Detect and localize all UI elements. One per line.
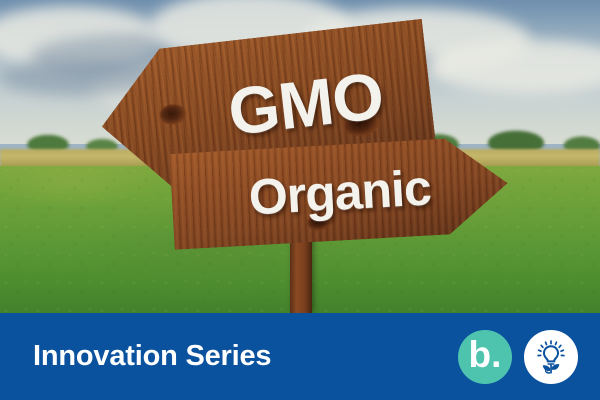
banner-title: Innovation Series xyxy=(33,340,271,373)
lightbulb-plant-icon xyxy=(531,337,571,377)
banner-logos: b. xyxy=(458,330,578,384)
promo-image: GMO Organic Innovation Series b. xyxy=(0,0,600,400)
innovation-series-banner: Innovation Series b. xyxy=(0,313,600,400)
signpost: GMO Organic xyxy=(0,0,600,313)
wood-knot xyxy=(307,214,330,231)
wood-knot xyxy=(159,103,187,126)
brand-b-logo[interactable]: b. xyxy=(458,330,512,384)
wood-knot xyxy=(343,112,379,138)
lightbulb-plant-logo[interactable] xyxy=(524,330,578,384)
brand-b-mark: b. xyxy=(469,336,502,373)
arrow-right-icon xyxy=(169,135,510,250)
sign-organic: Organic xyxy=(169,135,510,250)
